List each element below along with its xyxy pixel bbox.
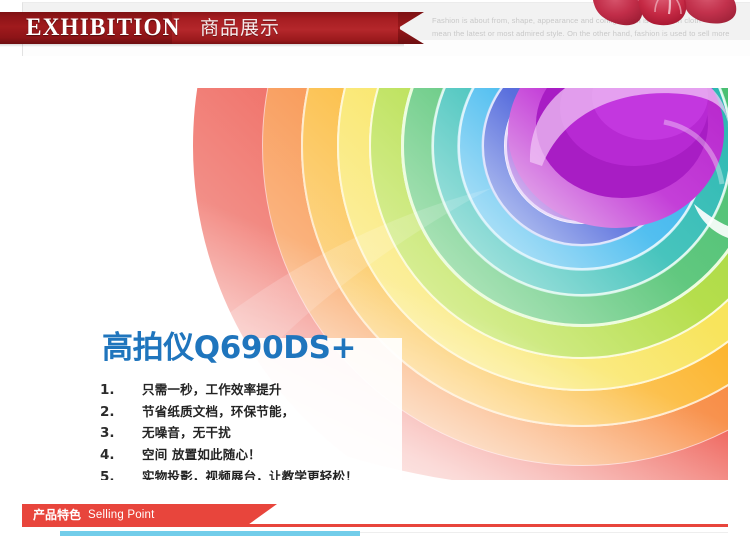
header-blurb-text: Fashion is about from, shape, appearance… [432,14,744,40]
product-hero-banner: 高拍仪Q690DS+ 1. 只需一秒，工作效率提升 2. 节省纸质文档，环保节能… [22,88,728,480]
list-item: 4. 空间 放置如此随心！ [100,444,371,466]
list-item-text: 节省纸质文档，环保节能， [142,401,294,420]
list-item-number: 5. [100,469,142,480]
list-item-number: 3. [100,425,142,441]
list-item-text: 无噪音，无干扰 [142,422,231,441]
header-blurb-line-2: mean the latest or most admired style. O… [432,27,744,40]
list-item-text: 实物投影，视频展台，让教学更轻松！ [142,466,358,480]
bottom-accent-bar-tail [360,532,728,535]
page-bottom-edge [22,536,728,540]
list-item-text: 空间 放置如此随心！ [142,444,261,463]
exhibition-title-cn: 商品展示 [200,13,280,43]
list-item-number: 2. [100,404,142,420]
exhibition-title-en: EXHIBITION [26,12,181,44]
selling-point-label-en: Selling Point [88,505,155,525]
list-item: 5. 实物投影，视频展台，让教学更轻松！ [100,466,371,480]
product-title: 高拍仪Q690DS+ [102,322,356,367]
header-blurb-line-1: Fashion is about from, shape, appearance… [432,14,744,27]
list-item: 1. 只需一秒，工作效率提升 [100,379,371,401]
selling-point-label-cn: 产品特色 [33,505,81,525]
list-item-number: 1. [100,382,142,398]
list-item-number: 4. [100,447,142,463]
list-item-text: 只需一秒，工作效率提升 [142,379,282,398]
product-feature-list: 1. 只需一秒，工作效率提升 2. 节省纸质文档，环保节能， 3. 无噪音，无干… [100,379,371,480]
exhibition-product-page: EXHIBITION 商品展示 Fashion is about from, s… [0,0,750,540]
list-item: 2. 节省纸质文档，环保节能， [100,401,371,423]
page-header-band: EXHIBITION 商品展示 Fashion is about from, s… [0,0,750,56]
list-item: 3. 无噪音，无干扰 [100,422,371,444]
